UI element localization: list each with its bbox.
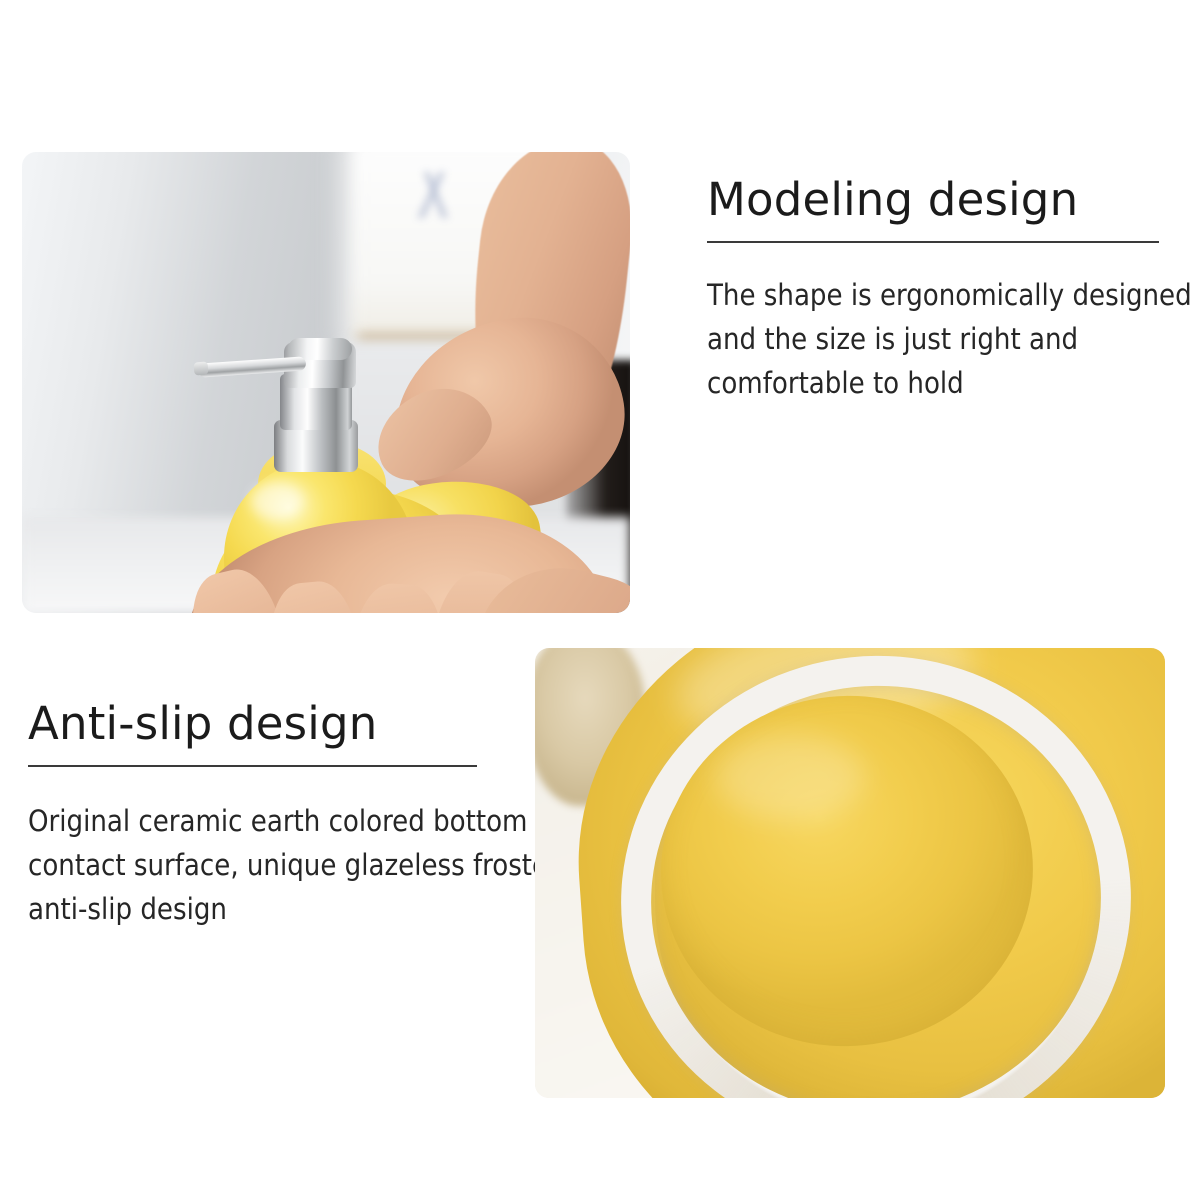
page-canvas: Modeling design The shape is ergonomical…	[0, 0, 1200, 1200]
modeling-design-body-line: and the size is just right and	[707, 317, 1169, 361]
anti-slip-design-body-line: anti-slip design	[28, 887, 480, 931]
section-anti-slip-design: Anti-slip design Original ceramic earth …	[28, 700, 480, 931]
modeling-design-body: The shape is ergonomically designed and …	[707, 273, 1169, 405]
anti-slip-design-body-line: contact surface, unique glazeless froste…	[28, 843, 480, 887]
section-modeling-design: Modeling design The shape is ergonomical…	[707, 176, 1169, 405]
duck-highlight	[250, 482, 304, 520]
photo-hands-holding-dispenser	[22, 152, 630, 613]
anti-slip-design-rule	[28, 765, 477, 767]
modeling-design-body-line: The shape is ergonomically designed	[707, 273, 1169, 317]
blurred-frame-artwork	[378, 172, 498, 218]
inner-disc-highlight	[715, 734, 865, 820]
modeling-design-rule	[707, 241, 1159, 243]
modeling-design-heading: Modeling design	[707, 176, 1169, 225]
photo-dispenser-base-ring	[535, 648, 1165, 1098]
anti-slip-design-heading: Anti-slip design	[28, 700, 480, 749]
modeling-design-body-line: comfortable to hold	[707, 361, 1169, 405]
pump-spout-tip	[194, 362, 209, 376]
anti-slip-design-body-line: Original ceramic earth colored bottom	[28, 799, 480, 843]
anti-slip-design-body: Original ceramic earth colored bottom co…	[28, 799, 480, 931]
